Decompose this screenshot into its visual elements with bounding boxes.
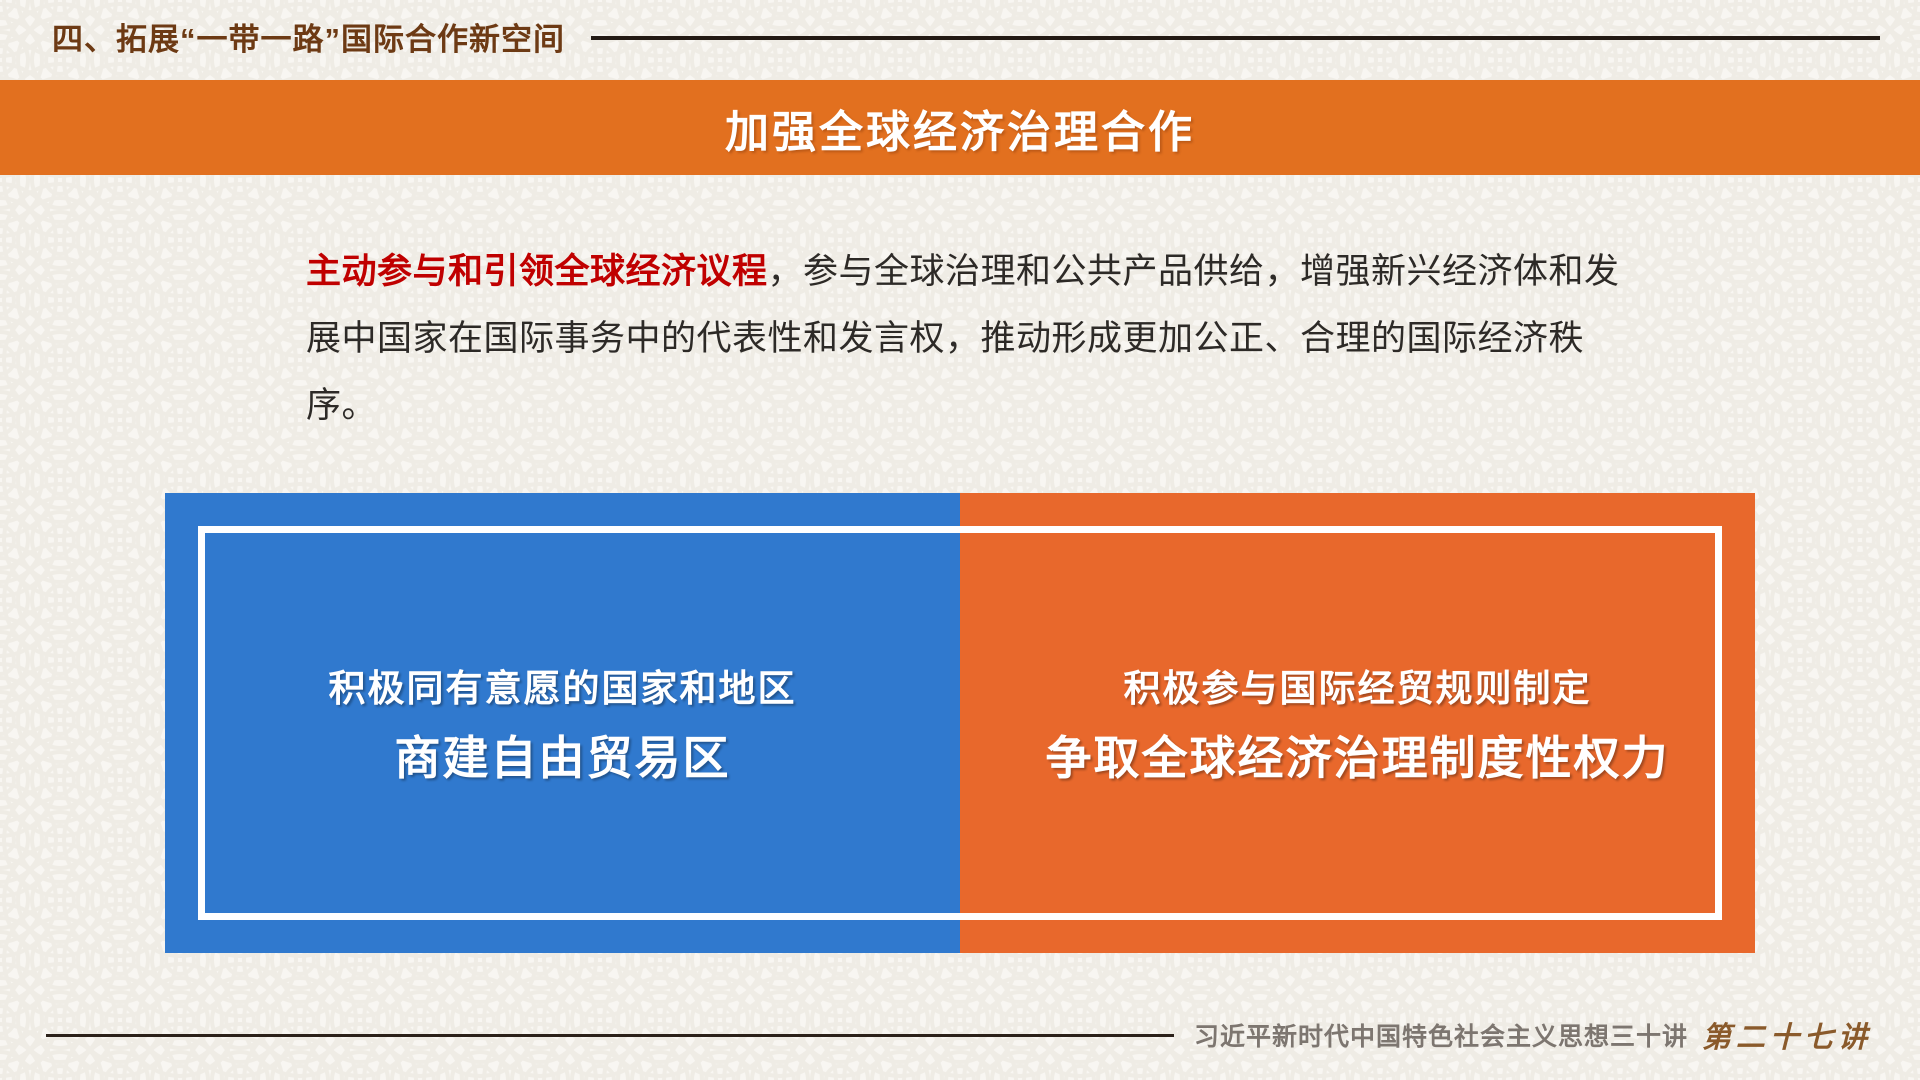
section-header-label: 四、拓展“一带一路”国际合作新空间 <box>52 14 565 59</box>
footer-series-title: 习近平新时代中国特色社会主义思想三十讲 <box>1194 1017 1688 1053</box>
panel-left-line2: 商建自由贸易区 <box>329 722 797 788</box>
footer-lecture-number: 第二十七讲 <box>1702 1014 1872 1056</box>
section-header-divider <box>591 36 1880 40</box>
body-highlight-text: 主动参与和引领全球经济议程 <box>306 252 768 291</box>
panel-right-line2: 争取全球经济治理制度性权力 <box>1046 722 1670 788</box>
body-paragraph: 主动参与和引领全球经济议程，参与全球治理和公共产品供给，增强新兴经济体和发展中国… <box>306 238 1636 439</box>
panel-right[interactable]: 积极参与国际经贸规则制定 争取全球经济治理制度性权力 <box>960 493 1755 953</box>
slide-title-band: 加强全球经济治理合作 <box>0 80 1920 175</box>
slide-footer: 习近平新时代中国特色社会主义思想三十讲 第二十七讲 <box>0 1006 1920 1064</box>
panel-left[interactable]: 积极同有意愿的国家和地区 商建自由贸易区 <box>165 493 960 953</box>
panel-left-line1: 积极同有意愿的国家和地区 <box>329 658 797 712</box>
footer-divider <box>46 1034 1174 1037</box>
panel-right-text: 积极参与国际经贸规则制定 争取全球经济治理制度性权力 <box>1016 658 1700 788</box>
panel-left-text: 积极同有意愿的国家和地区 商建自由贸易区 <box>299 658 827 788</box>
page-title: 加强全球经济治理合作 <box>725 96 1195 160</box>
slide-canvas: 四、拓展“一带一路”国际合作新空间 加强全球经济治理合作 主动参与和引领全球经济… <box>0 0 1920 1080</box>
panel-row: 积极同有意愿的国家和地区 商建自由贸易区 积极参与国际经贸规则制定 争取全球经济… <box>165 493 1755 953</box>
section-header: 四、拓展“一带一路”国际合作新空间 <box>0 8 1920 64</box>
panel-right-line1: 积极参与国际经贸规则制定 <box>1046 658 1670 712</box>
